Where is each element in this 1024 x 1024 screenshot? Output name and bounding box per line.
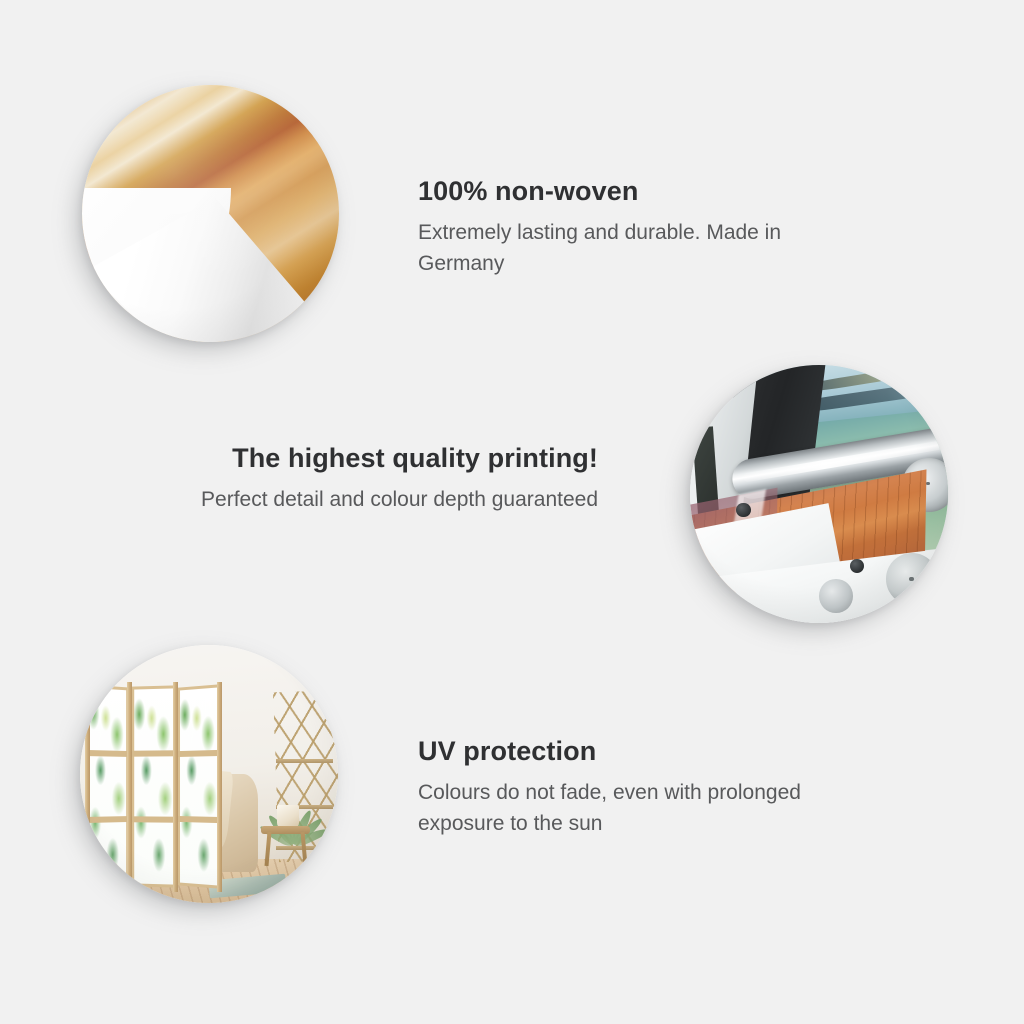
feature-image-non-woven	[82, 85, 339, 342]
feature-heading-printing: The highest quality printing!	[180, 443, 598, 474]
feature-image-printing	[690, 365, 948, 623]
printing-press-illustration	[690, 365, 948, 623]
feature-text-uv-protection: UV protection Colours do not fade, even …	[418, 736, 818, 839]
feature-heading-non-woven: 100% non-woven	[418, 176, 858, 207]
disc-vignette	[80, 645, 338, 903]
feature-text-printing: The highest quality printing! Perfect de…	[180, 443, 598, 515]
disc-vignette	[82, 85, 339, 342]
non-woven-wallpaper-illustration	[82, 85, 339, 342]
feature-body-printing: Perfect detail and colour depth guarante…	[180, 484, 598, 515]
infographic-canvas: 100% non-woven Extremely lasting and dur…	[0, 0, 1024, 1024]
feature-heading-uv-protection: UV protection	[418, 736, 818, 767]
disc-vignette	[690, 365, 948, 623]
feature-text-non-woven: 100% non-woven Extremely lasting and dur…	[418, 176, 858, 279]
feature-image-uv-protection	[80, 645, 338, 903]
room-divider-illustration	[80, 645, 338, 903]
feature-body-uv-protection: Colours do not fade, even with prolonged…	[418, 777, 818, 839]
feature-body-non-woven: Extremely lasting and durable. Made in G…	[418, 217, 858, 279]
